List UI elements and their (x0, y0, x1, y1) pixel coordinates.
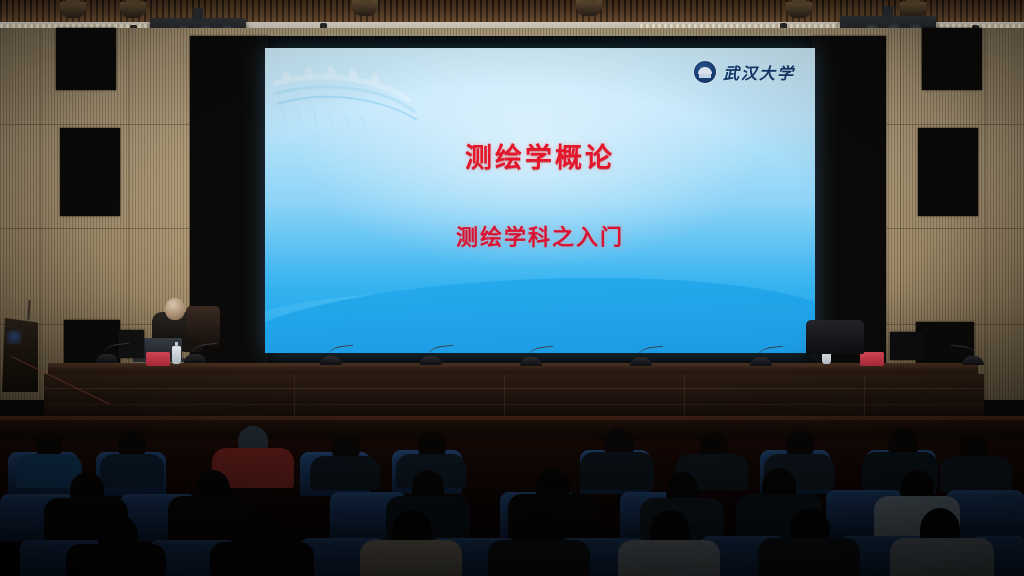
audience-shoulders (618, 540, 720, 576)
slide-title: 测绘学概论 (265, 136, 815, 175)
slide-subtitle: 测绘学科之入门 (265, 220, 815, 252)
lecturer-chair (186, 306, 220, 346)
tissue-box (860, 352, 884, 366)
projector-mount (193, 8, 203, 20)
stage-chair (806, 320, 864, 354)
conference-table-front (44, 374, 984, 418)
audience-shoulders (488, 540, 590, 576)
audience-area (0, 420, 1024, 576)
acoustic-panel (918, 128, 978, 216)
audience-shoulders (210, 542, 314, 576)
audience-shoulders (940, 456, 1012, 492)
presentation-screen[interactable]: 武汉大学 测绘学概论 测绘学科之入门 宁津生 (265, 48, 815, 353)
university-logo-text: 武汉大学 (723, 60, 795, 84)
ceiling-lamp (120, 2, 146, 18)
ceiling-lamp (60, 2, 86, 18)
lectern-indicator-light (6, 330, 22, 344)
audience-shoulders (360, 540, 462, 576)
audience-shoulders (580, 452, 654, 490)
tissue-box (146, 352, 170, 366)
audience-shoulders (66, 544, 166, 576)
acoustic-panel (60, 128, 120, 216)
stage-curtain-right (812, 36, 886, 366)
lecture-hall-photo: 武汉大学 测绘学概论 测绘学科之入门 宁津生 (0, 0, 1024, 576)
seated-lecturer-head (165, 298, 185, 320)
monitor (890, 332, 924, 360)
water-bottle (172, 346, 181, 364)
audience-shoulders (310, 456, 380, 490)
university-logo: 武汉大学 (693, 60, 795, 84)
wuhan-university-seal-icon (693, 60, 717, 84)
audience-shoulders (890, 538, 994, 576)
ceiling-lamp (786, 2, 812, 18)
projector-mount (883, 6, 893, 18)
ceiling-lamp (352, 0, 378, 16)
audience-shoulders (758, 538, 860, 576)
chinese-roof-eave-icon (271, 54, 431, 136)
acoustic-panel (56, 28, 116, 90)
ceiling-lamp (576, 0, 602, 16)
audience-shoulders (100, 454, 164, 488)
acoustic-panel (922, 28, 982, 90)
